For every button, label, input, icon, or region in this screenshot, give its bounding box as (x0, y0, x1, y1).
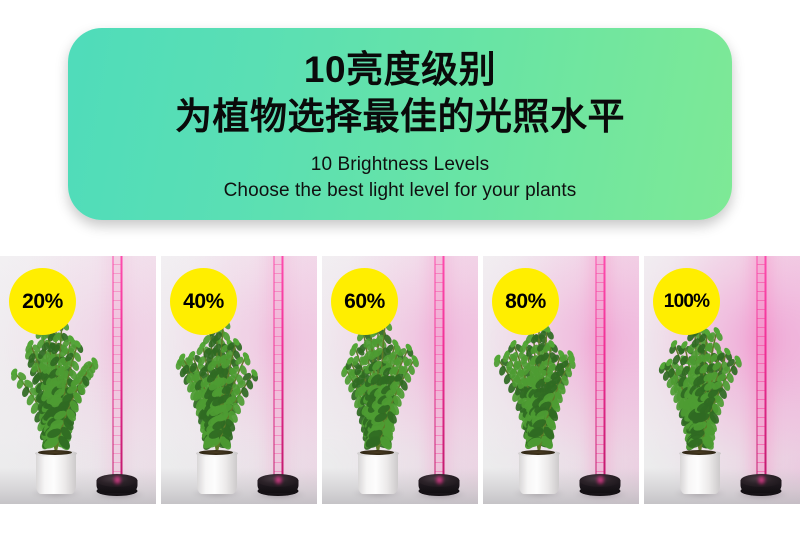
grow-light-lamp[interactable] (417, 256, 461, 496)
lamp-led-strip (112, 256, 123, 478)
grow-light-lamp[interactable] (256, 256, 300, 496)
led-rail-right (442, 256, 444, 478)
grow-light-lamp[interactable] (95, 256, 139, 496)
lamp-base (258, 474, 299, 496)
base-stemglow (274, 475, 283, 485)
brightness-badge-label: 80% (505, 291, 546, 312)
brightness-panel[interactable]: 60% (322, 256, 478, 504)
led-rail-right (281, 256, 283, 478)
brightness-panel-row: 20%40%60%80%100% (0, 256, 800, 504)
brightness-badge: 20% (9, 268, 76, 335)
led-rail-left (434, 256, 436, 478)
pot-soil (521, 450, 555, 455)
subheadline-english-secondary: Choose the best light level for your pla… (224, 180, 577, 202)
brightness-panel[interactable]: 20% (0, 256, 156, 504)
pot-rim (518, 450, 560, 457)
lamp-led-strip (595, 256, 606, 478)
potted-plant (493, 306, 585, 496)
pot-soil (682, 450, 716, 455)
base-stemglow (596, 475, 605, 485)
brightness-panel[interactable]: 80% (483, 256, 639, 504)
brightness-panel[interactable]: 40% (161, 256, 317, 504)
pot-rim (679, 450, 721, 457)
brightness-badge: 80% (492, 268, 559, 335)
led-rail-left (595, 256, 597, 478)
led-rail-left (756, 256, 758, 478)
plant-pot (36, 452, 76, 494)
potted-plant (332, 306, 424, 496)
pot-rim (196, 450, 238, 457)
pot-rim (357, 450, 399, 457)
lamp-base (741, 474, 782, 496)
brightness-badge-label: 60% (344, 291, 385, 312)
lamp-base (419, 474, 460, 496)
pot-rim (35, 450, 77, 457)
pot-soil (199, 450, 233, 455)
headline-chinese-secondary: 为植物选择最佳的光照水平 (175, 95, 625, 139)
header-banner: 10亮度级别 为植物选择最佳的光照水平 10 Brightness Levels… (68, 28, 732, 220)
lamp-led-strip (273, 256, 284, 478)
led-rail-right (764, 256, 766, 478)
brightness-badge: 100% (653, 268, 720, 335)
lamp-base (97, 474, 138, 496)
brightness-badge-label: 100% (664, 292, 709, 311)
pot-soil (360, 450, 394, 455)
brightness-panel[interactable]: 100% (644, 256, 800, 504)
subheadline-english-primary: 10 Brightness Levels (311, 154, 489, 176)
brightness-badge-label: 20% (22, 291, 63, 312)
base-stemglow (113, 475, 122, 485)
headline-chinese-primary: 10亮度级别 (304, 50, 496, 90)
potted-plant (171, 306, 263, 496)
lamp-led-strip (434, 256, 445, 478)
led-rail-left (112, 256, 114, 478)
led-rail-right (120, 256, 122, 478)
base-stemglow (435, 475, 444, 485)
brightness-badge: 60% (331, 268, 398, 335)
grow-light-lamp[interactable] (578, 256, 622, 496)
led-rail-right (603, 256, 605, 478)
banner-surface: 10亮度级别 为植物选择最佳的光照水平 10 Brightness Levels… (68, 28, 732, 220)
led-rail-left (273, 256, 275, 478)
potted-plant (10, 306, 102, 496)
lamp-led-strip (756, 256, 767, 478)
potted-plant (654, 306, 746, 496)
plant-pot (197, 452, 237, 494)
lamp-base (580, 474, 621, 496)
pot-soil (38, 450, 72, 455)
brightness-badge-label: 40% (183, 291, 224, 312)
brightness-badge: 40% (170, 268, 237, 335)
plant-pot (358, 452, 398, 494)
grow-light-lamp[interactable] (739, 256, 783, 496)
plant-pot (680, 452, 720, 494)
base-stemglow (757, 475, 766, 485)
plant-pot (519, 452, 559, 494)
